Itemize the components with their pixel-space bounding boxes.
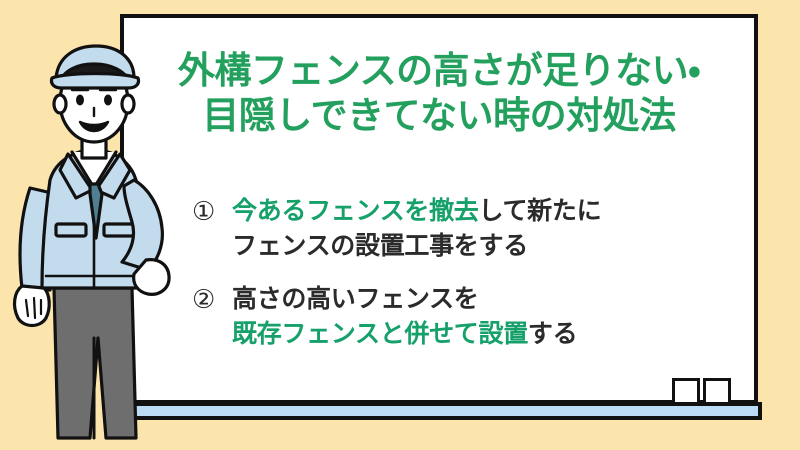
eye-right <box>104 95 112 106</box>
eye-left <box>76 95 84 106</box>
screenshot-stage: 外構フェンスの高さが足りない・ 目隠しできてない時の対処法 ① 今あるフェンスを… <box>0 0 800 450</box>
cap-brim <box>51 74 138 89</box>
chest-pocket-left <box>56 224 86 236</box>
whiteboard-tray <box>116 402 762 420</box>
ear-right <box>122 95 134 113</box>
chest-pocket-right <box>104 224 134 236</box>
construction-worker-character <box>6 38 196 450</box>
left-hand <box>15 286 50 326</box>
whiteboard-marker <box>672 378 700 404</box>
whiteboard-marker <box>703 378 731 404</box>
whiteboard <box>120 14 758 404</box>
whiteboard-marker-group <box>672 378 738 404</box>
ear-left <box>54 95 66 113</box>
